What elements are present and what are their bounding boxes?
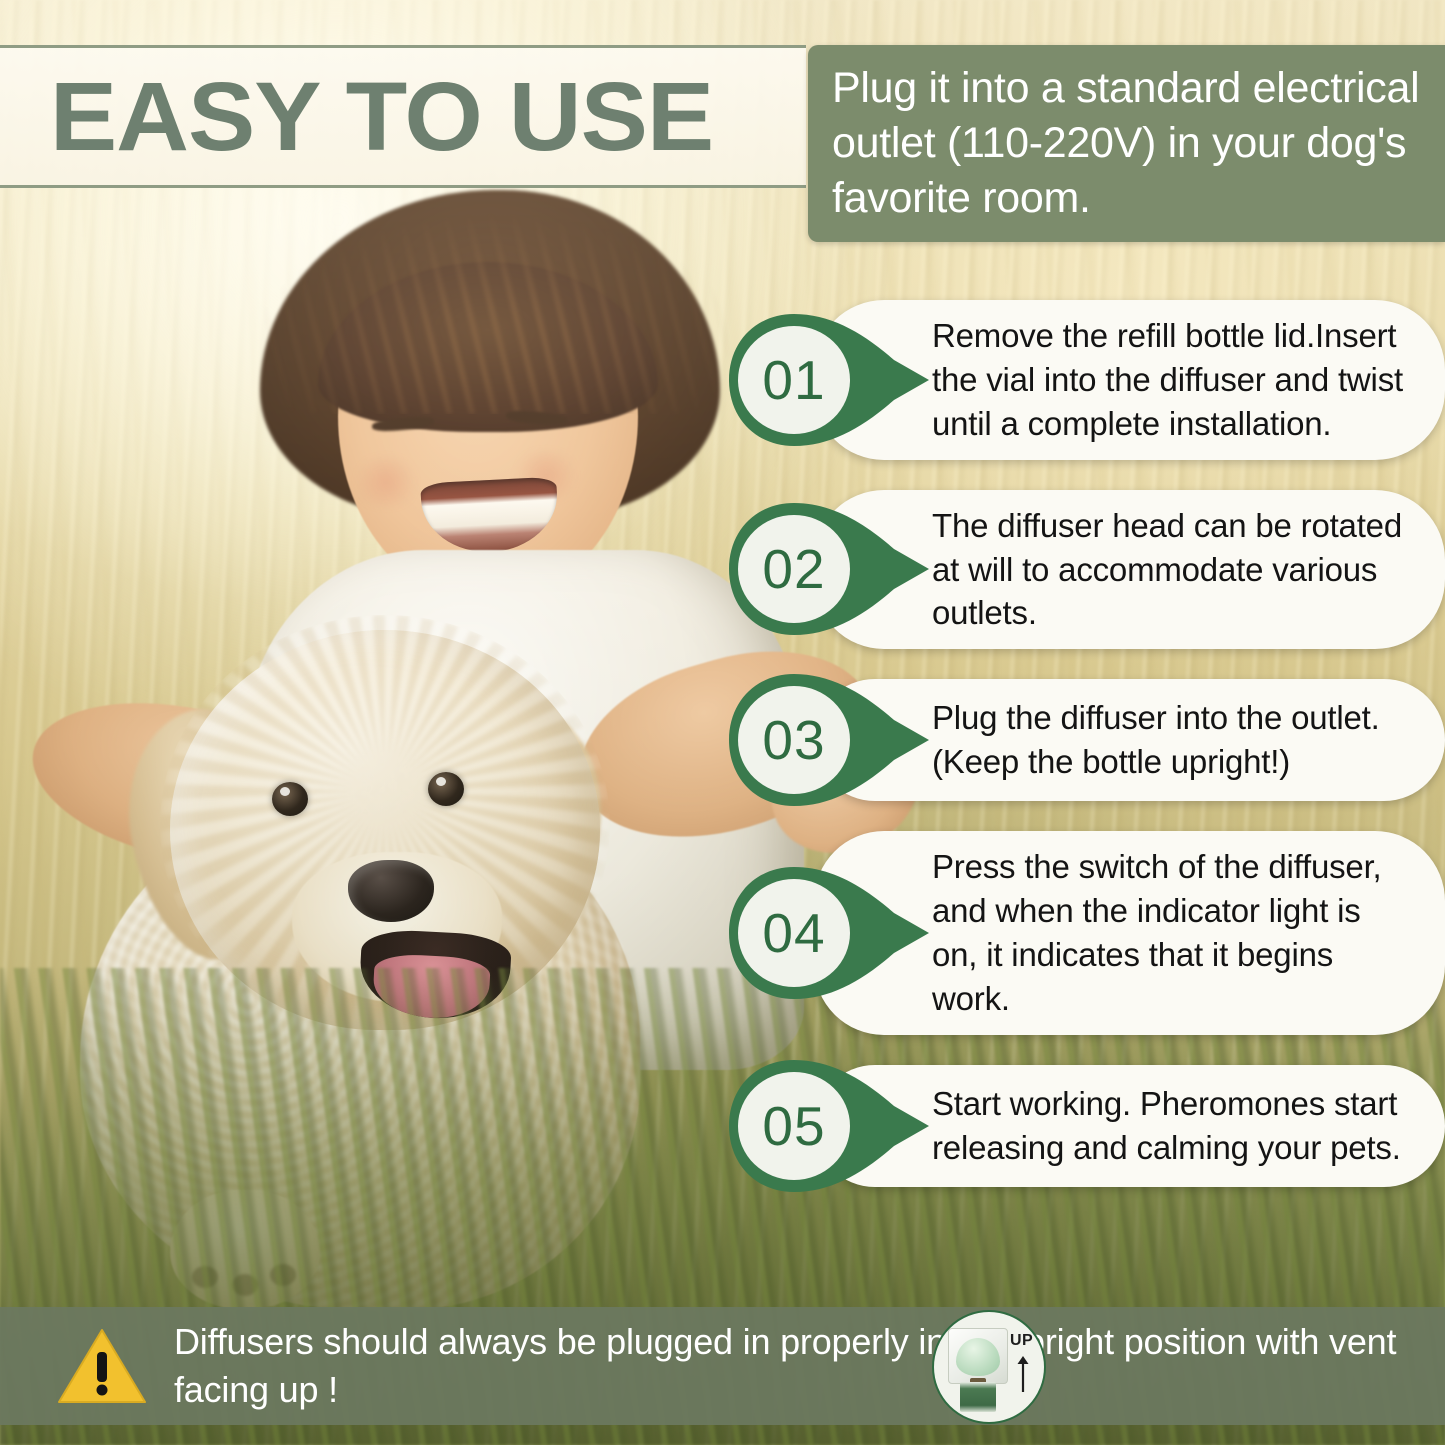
diffuser-plug-icon	[948, 1328, 1010, 1412]
step-number-badge: 04	[726, 865, 932, 1001]
title-bar: EASY TO USE	[0, 45, 806, 188]
header-callout-text: Plug it into a standard electrical outle…	[832, 61, 1427, 226]
step-number-badge: 01	[726, 312, 932, 448]
orientation-label: UP	[1010, 1332, 1033, 1350]
step-number: 04	[726, 865, 862, 1001]
step-number-badge: 03	[726, 672, 932, 808]
dog-eye-right	[428, 772, 464, 806]
child-cheek-left	[350, 458, 422, 506]
dog-eye-highlight-right	[436, 777, 446, 786]
refill-bottle	[960, 1382, 996, 1412]
child-hair-wisps	[236, 184, 756, 414]
page-title: EASY TO USE	[0, 68, 713, 165]
steps-list: Remove the refill bottle lid.Insert the …	[726, 300, 1445, 1217]
badge-ring: UP	[932, 1310, 1046, 1424]
step-number: 03	[726, 672, 862, 808]
warning-triangle-icon	[56, 1326, 148, 1406]
step-number-badge: 02	[726, 501, 932, 637]
step-number: 01	[726, 312, 862, 448]
step-number-badge: 05	[726, 1058, 932, 1194]
step-text: The diffuser head can be rotated at will…	[932, 504, 1411, 636]
step-text: Press the switch of the diffuser, and wh…	[932, 845, 1411, 1021]
step-text: Plug the diffuser into the outlet. (Keep…	[932, 696, 1411, 784]
step-item-03: Plug the diffuser into the outlet. (Keep…	[726, 679, 1445, 801]
step-item-01: Remove the refill bottle lid.Insert the …	[726, 300, 1445, 460]
footer-warning-bar: Diffusers should always be plugged in pr…	[0, 1307, 1445, 1425]
up-arrow-icon	[1016, 1354, 1030, 1394]
dog-eye-left	[272, 782, 308, 816]
step-text: Remove the refill bottle lid.Insert the …	[932, 314, 1411, 446]
header-callout-panel: Plug it into a standard electrical outle…	[808, 45, 1445, 242]
step-item-02: The diffuser head can be rotated at will…	[726, 490, 1445, 650]
step-item-04: Press the switch of the diffuser, and wh…	[726, 831, 1445, 1035]
step-item-05: Start working. Pheromones start releasin…	[726, 1065, 1445, 1187]
product-orientation-badge: UP	[928, 1308, 1052, 1426]
step-number: 02	[726, 501, 862, 637]
step-number: 05	[726, 1058, 862, 1194]
step-text: Start working. Pheromones start releasin…	[932, 1082, 1411, 1170]
footer-warning-text: Diffusers should always be plugged in pr…	[174, 1318, 1445, 1413]
dog-eye-highlight-left	[280, 787, 290, 796]
